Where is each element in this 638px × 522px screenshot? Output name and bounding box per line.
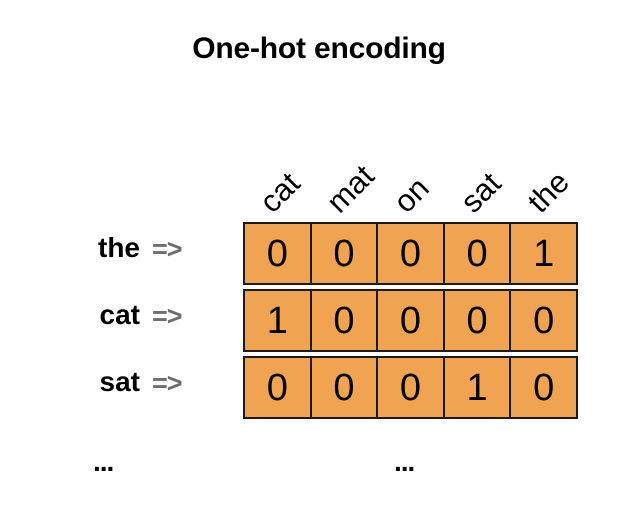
matrix-cell: 0 [245,358,312,417]
figure-title: One-hot encoding [0,32,638,66]
matrix-cell: 0 [445,224,512,283]
column-header-label: the [522,166,574,218]
matrix-cell: 0 [312,224,379,283]
row-arrow-cat: => [152,301,222,332]
row-arrow-the: => [152,234,222,265]
matrix-cell: 0 [511,358,576,417]
matrix-cell: 0 [378,358,445,417]
matrix-cell: 0 [312,358,379,417]
matrix-row: 0 0 0 0 1 [243,222,578,285]
one-hot-encoding-figure: One-hot encoding cat mat on sat the the … [0,0,638,522]
ellipsis-row-labels: ... [93,448,113,476]
matrix-cell: 0 [378,291,445,350]
matrix-cell: 1 [511,224,576,283]
column-header-label: on [388,172,434,218]
matrix-cell: 0 [511,291,576,350]
one-hot-matrix: 0 0 0 0 1 1 0 0 0 0 0 0 0 1 0 [243,222,578,419]
row-label-the: the [20,232,140,264]
matrix-cell: 0 [245,224,312,283]
row-label-sat: sat [20,366,140,398]
matrix-cell: 1 [245,291,312,350]
column-header-label: sat [455,167,506,218]
row-label-cat: cat [20,299,140,331]
matrix-cell: 1 [445,358,512,417]
column-header-label: mat [321,160,379,218]
matrix-cell: 0 [445,291,512,350]
row-arrow-sat: => [152,368,222,399]
matrix-cell: 0 [378,224,445,283]
column-header-label: cat [254,167,305,218]
matrix-row: 1 0 0 0 0 [243,289,578,352]
ellipsis-matrix: ... [394,448,414,476]
matrix-cell: 0 [312,291,379,350]
matrix-row: 0 0 0 1 0 [243,356,578,419]
